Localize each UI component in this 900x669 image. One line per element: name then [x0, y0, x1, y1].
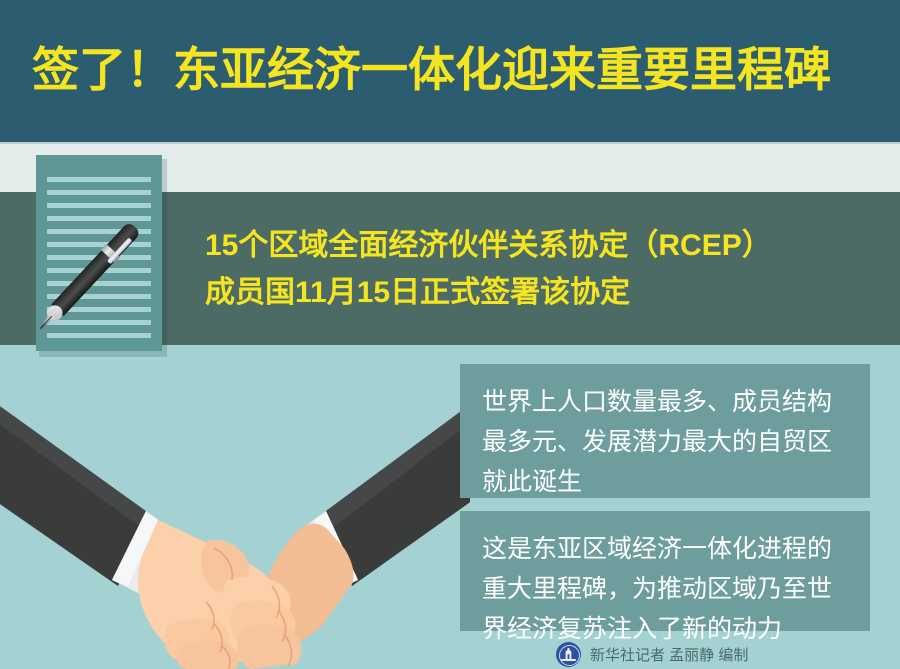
card-2-line-1: 这是东亚区域经济一体化进程的 [482, 529, 848, 569]
footer-credit: 新华社记者 孟丽静 编制 [556, 641, 748, 667]
credit-text: 新华社记者 孟丽静 编制 [590, 644, 748, 665]
handshake-illustration [0, 388, 470, 669]
card-2-line-2: 重大里程碑，为推动区域乃至世 [482, 569, 848, 609]
headline-block: 15个区域全面经济伙伴关系协定（RCEP） 成员国11月15日正式签署该协定 [205, 222, 895, 316]
document-text-line [47, 242, 151, 247]
page-title: 签了！东亚经济一体化迎来重要里程碑 [32, 30, 877, 110]
document-text-line [47, 333, 151, 338]
card-milestone-recovery: 这是东亚区域经济一体化进程的 重大里程碑，为推动区域乃至世 界经济复苏注入了新的… [460, 511, 870, 631]
xinhua-news-agency-logo [556, 642, 581, 667]
document-text-line [47, 281, 151, 286]
card-1-line-1: 世界上人口数量最多、成员结构 [482, 382, 848, 422]
document-text-line [47, 320, 151, 325]
xinhua-logo-base [561, 659, 576, 661]
headline-line-1: 15个区域全面经济伙伴关系协定（RCEP） [205, 222, 895, 269]
document-text-line [47, 190, 151, 195]
document-text-line [47, 203, 151, 208]
signed-document-with-pen-icon [36, 155, 164, 353]
card-largest-free-trade-zone: 世界上人口数量最多、成员结构 最多元、发展潜力最大的自贸区 就此诞生 [460, 364, 870, 498]
header-divider-line [0, 142, 900, 144]
infographic-canvas: 签了！东亚经济一体化迎来重要里程碑 [0, 0, 900, 669]
card-1-line-2: 最多元、发展潜力最大的自贸区 [482, 422, 848, 462]
headline-line-2: 成员国11月15日正式签署该协定 [205, 269, 895, 316]
document-text-line [47, 177, 151, 182]
card-1-line-3: 就此诞生 [482, 462, 848, 502]
